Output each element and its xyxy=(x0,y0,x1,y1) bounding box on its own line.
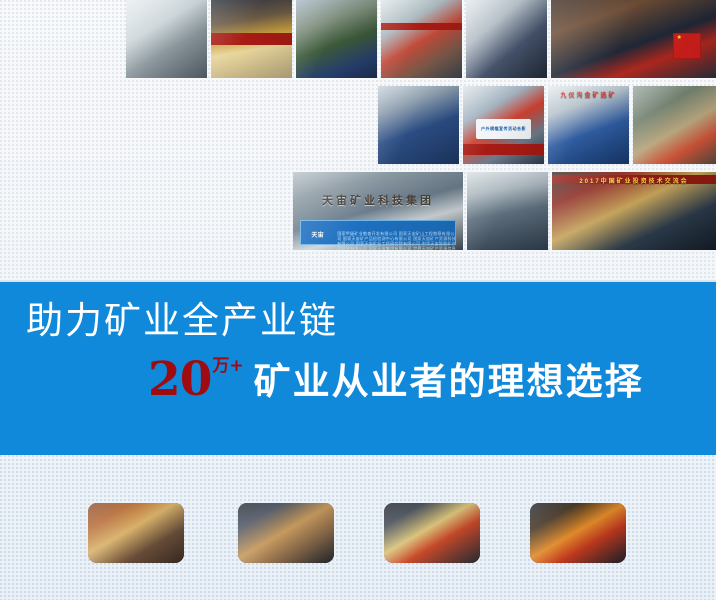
photo-company-signage-wall: 天宙矿业科技集团 国家甲级矿业勘查开发有限公司 国家天宙矿山工程勘察有限公司 国… xyxy=(293,172,463,250)
photo-chairman-at-desk-with-flag xyxy=(551,0,716,78)
card-two-workers-red-helmets xyxy=(384,503,480,563)
photo-helmet-workers-beside-van xyxy=(633,86,716,164)
photo-field-team-on-mountain xyxy=(296,0,377,78)
member-count-unit: 万+ xyxy=(212,358,243,375)
photo-conference-award-ceremony xyxy=(211,0,292,78)
photo-lab-technician-at-instrument xyxy=(126,0,207,78)
photo-outdoor-banner-event: 户外横幅宣传活动合影 xyxy=(463,86,544,164)
slogan-line-2: 20 万+ 矿业从业者的理想选择 xyxy=(148,358,644,401)
photo-mine-crew-group-selfie xyxy=(378,86,459,164)
promo-banner-page: 户外横幅宣传活动合影 九仪沟金矿选矿 天宙矿业科技集团 国家甲级矿业勘查开发有限… xyxy=(0,0,716,600)
blue-slogan-banner: 助力矿业全产业链 20 万+ 矿业从业者的理想选择 xyxy=(0,282,716,455)
slogan-line-2-text: 矿业从业者的理想选择 xyxy=(254,363,644,400)
card-furnace-operator xyxy=(530,503,626,563)
photo-woman-raising-flag xyxy=(467,172,548,250)
card-smiling-miner-portrait xyxy=(238,503,334,563)
photo-blue-uniform-team-at-plant: 九仪沟金矿选矿 xyxy=(548,86,629,164)
slogan-line-1: 助力矿业全产业链 xyxy=(26,302,338,339)
photo-flotation-workshop-inspection xyxy=(381,0,462,78)
photo-annual-convention-group: 2017中国矿业投资技术交流会 xyxy=(552,172,716,250)
member-count-number: 20 xyxy=(148,358,211,401)
card-geologist-sampling-outcrop xyxy=(88,503,184,563)
photo-two-engineers-testing-sample xyxy=(466,0,547,78)
